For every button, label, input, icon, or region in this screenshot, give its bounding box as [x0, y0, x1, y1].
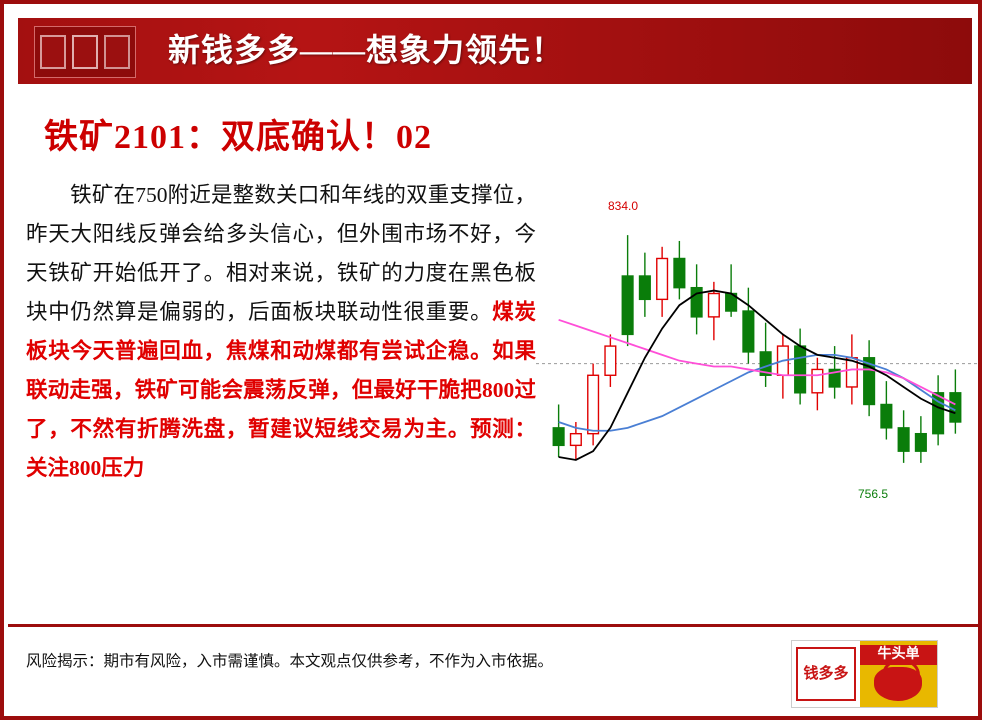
- paragraph-plain: 铁矿在750附近是整数关口和年线的双重支撑位，昨天大阳线反弹会给多头信心，但外围…: [26, 183, 536, 324]
- page-title: 铁矿2101：双底确认！02: [44, 109, 432, 158]
- footer-logo-bull: 牛头单: [860, 641, 937, 707]
- paragraph-highlight: 煤炭板块今天普遍回血，焦煤和动煤都有尝试企稳。如果联动走强，铁矿可能会震荡反弹，…: [26, 300, 536, 480]
- footer-logo-seal-text: 钱多多: [796, 647, 856, 701]
- candlestick-chart: 834.0 756.5: [536, 169, 978, 539]
- footer-logo-seal: 钱多多: [792, 641, 860, 707]
- bull-icon: [874, 667, 922, 701]
- header-title: 新钱多多——想象力领先！: [168, 18, 564, 84]
- body-paragraph: 铁矿在750附近是整数关口和年线的双重支撑位，昨天大阳线反弹会给多头信心，但外围…: [26, 176, 536, 488]
- low-price-label: 756.5: [858, 487, 888, 501]
- risk-disclaimer: 风险揭示：期市有风险，入市需谨慎。本文观点仅供参考，不作为入市依据。: [26, 649, 666, 671]
- slide-page: 新钱多多——想象力领先！ 铁矿2101：双底确认！02 铁矿在750附近是整数关…: [0, 0, 982, 720]
- brand-seal-logo: [34, 26, 136, 78]
- chart-canvas: [536, 169, 978, 539]
- footer-brand-logo: 钱多多 牛头单: [791, 640, 938, 708]
- footer-divider: [8, 624, 982, 627]
- high-price-label: 834.0: [608, 199, 638, 213]
- header-bar: 新钱多多——想象力领先！: [18, 18, 972, 84]
- seal-glyph-1: [40, 35, 66, 69]
- seal-glyph-3: [104, 35, 130, 69]
- seal-glyph-2: [72, 35, 98, 69]
